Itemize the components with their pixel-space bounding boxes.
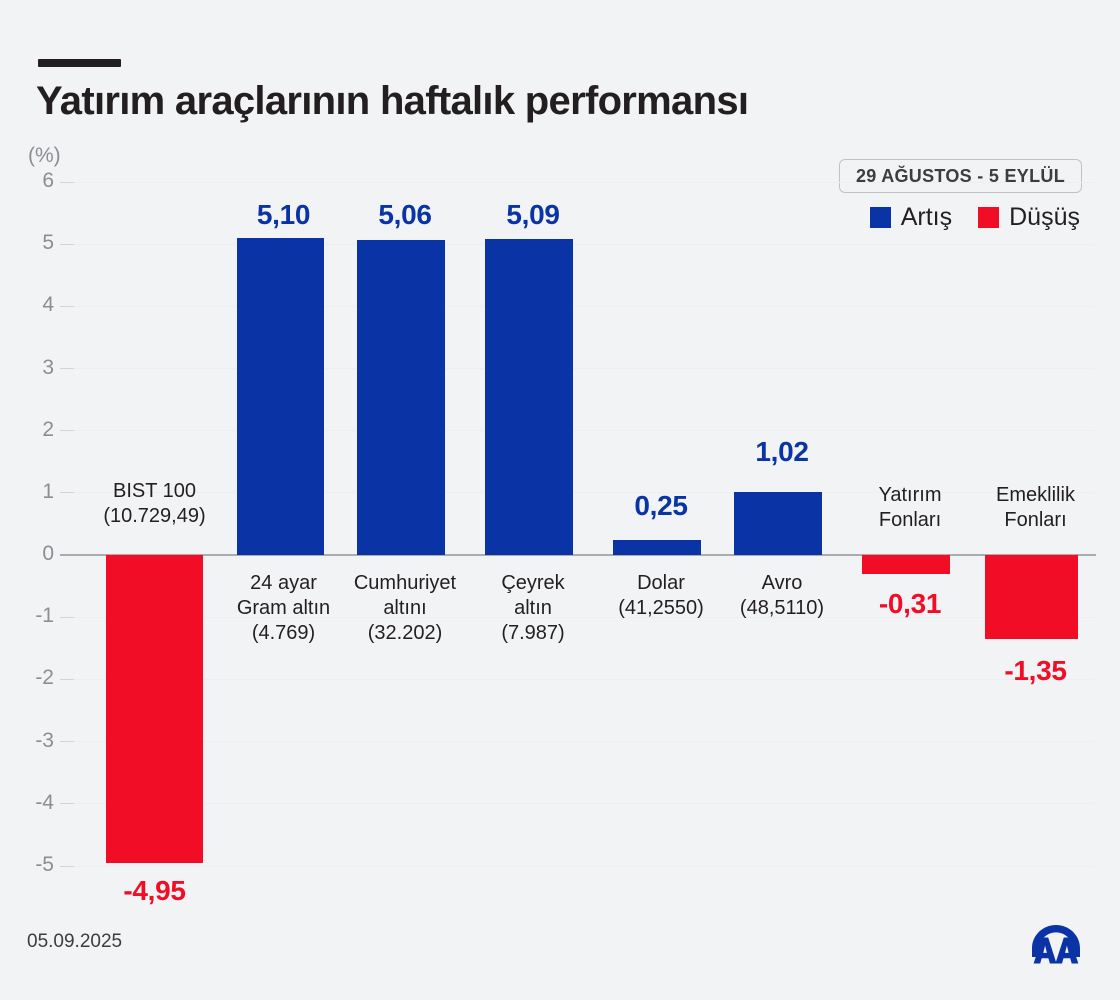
y-axis-tick-label: 0 [20,542,54,566]
grid-line [74,182,1094,183]
y-axis-tick-mark [60,244,74,245]
y-axis-tick-label: 4 [20,293,54,317]
infographic-canvas: Yatırım araçlarının haftalık performansı… [0,0,1120,1000]
bar-7[interactable] [862,555,950,574]
anadolu-ajansi-logo-icon [1022,919,1090,971]
bar-value-label-5: 0,25 [567,490,755,522]
bar-value-label-7: -0,31 [816,588,1004,620]
y-axis-tick-label: -1 [20,604,54,628]
y-axis-tick-mark [60,430,74,431]
footer-date: 05.09.2025 [27,931,122,953]
y-axis-tick-label: 3 [20,356,54,380]
y-axis-tick-label: 2 [20,418,54,442]
bar-3[interactable] [357,240,445,555]
bar-4[interactable] [485,239,573,556]
category-label-1: BIST 100 (10.729,49) [56,479,253,529]
y-axis-tick-mark [60,368,74,369]
category-label-8: Emeklilik Fonları [939,483,1120,533]
grid-line [74,244,1094,245]
bar-chart-plot: 6543210-1-2-3-4-5-4,95BIST 100 (10.729,4… [0,0,1120,1000]
bar-5[interactable] [613,540,701,556]
bar-8[interactable] [985,555,1078,639]
y-axis-tick-mark [60,866,74,867]
y-axis-tick-label: -5 [20,853,54,877]
bar-value-label-1: -4,95 [56,875,253,907]
y-axis-tick-mark [60,741,74,742]
bar-1[interactable] [106,555,203,863]
y-axis-tick-mark [60,803,74,804]
y-axis-tick-label: -3 [20,729,54,753]
bar-value-label-6: 1,02 [688,436,876,468]
y-axis-tick-label: 1 [20,480,54,504]
grid-line [74,368,1094,369]
y-axis-tick-mark [60,679,74,680]
y-axis-tick-mark [60,306,74,307]
y-axis-tick-label: -4 [20,791,54,815]
grid-line [74,741,1094,742]
grid-line [74,866,1094,867]
bar-value-label-4: 5,09 [439,199,627,231]
grid-line [74,306,1094,307]
y-axis-tick-label: 5 [20,231,54,255]
y-axis-tick-mark [60,617,74,618]
bar-6[interactable] [734,492,822,555]
y-axis-tick-label: 6 [20,169,54,193]
y-axis-tick-mark [60,182,74,183]
bar-value-label-8: -1,35 [939,655,1120,687]
grid-line [74,803,1094,804]
y-axis-tick-label: -2 [20,666,54,690]
grid-line [74,430,1094,431]
bar-2[interactable] [237,238,324,555]
